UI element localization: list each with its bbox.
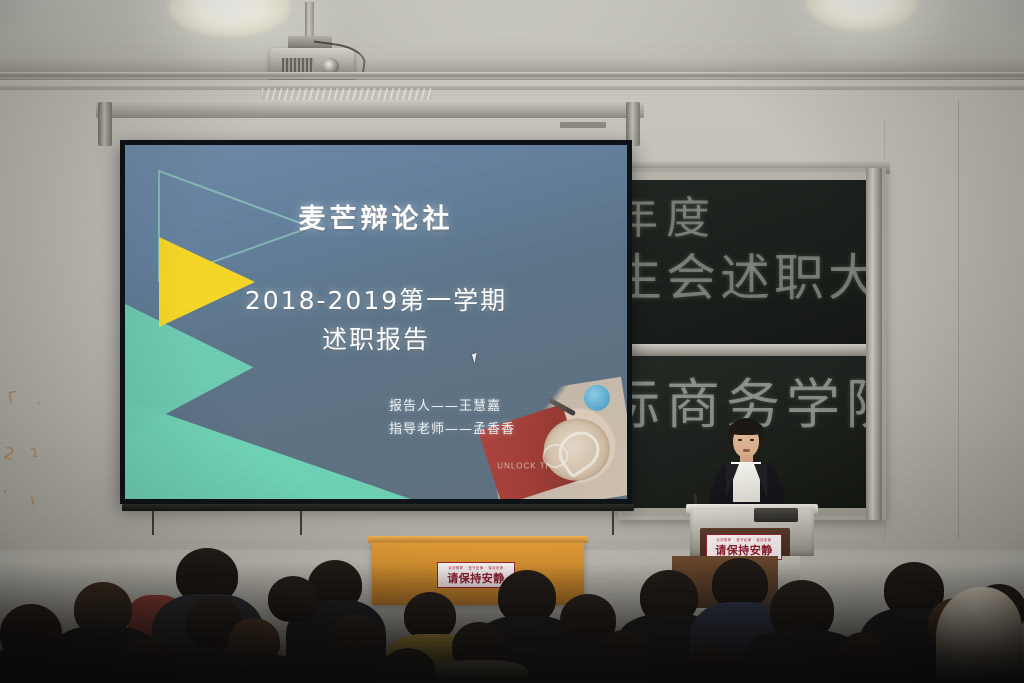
laptop[interactable] [754, 508, 798, 522]
classroom-photo-scene: Γ ˈ 2 ɿ ʻ ı 年度 生会述职大会 际商务学院 UNLOCK THE [0, 0, 1024, 683]
slide-subtitle-term: 2018-2019第一学期 [125, 281, 627, 317]
slide-surface: UNLOCK THE 麦芒辩论社 2018-2019第一学期 述职报告 报告人—… [125, 145, 627, 499]
presenter-lapel-right [754, 464, 767, 498]
microphone-icon [690, 486, 698, 494]
screen-cord-mid [300, 509, 302, 535]
screen-roller-housing [96, 100, 644, 118]
screen-housing-strip [262, 88, 432, 100]
photo-blue-accent [582, 383, 612, 413]
screen-housing-label [560, 122, 606, 128]
ceiling-rail [0, 72, 1024, 79]
blackboard-upper-panel: 年度 生会述职大会 [622, 180, 870, 344]
presenter-mouth [743, 449, 750, 452]
presenter-lapel-left [726, 464, 739, 498]
blackboard-chalk-ledge [618, 344, 874, 356]
slide-credits: 报告人——王慧嘉 指导老师——孟香香 [389, 395, 515, 441]
ceiling-rail-secondary [0, 86, 1024, 90]
screen-cord-left [152, 509, 154, 535]
slide-credit-presenter: 报告人——王慧嘉 [389, 395, 515, 418]
screen-cord-right [612, 509, 614, 535]
projector-mount-pole [305, 2, 314, 40]
wall-mark-4: ɿ [29, 442, 39, 462]
presenter-hair-front [729, 421, 763, 435]
slide-subtitle-report: 述职报告 [125, 320, 627, 356]
slide-credit-advisor: 指导老师——孟香香 [389, 418, 515, 441]
screen-bottom-bar [122, 504, 634, 511]
slide-title: 麦芒辩论社 [125, 197, 627, 236]
presenter-eye-left [738, 439, 742, 441]
audience [0, 536, 1024, 683]
blackboard-text-line2: 生会述职大会 [622, 238, 870, 310]
blackboard-right-rail [866, 168, 882, 520]
audience-shadow-gradient [0, 563, 1024, 683]
presenter-eye-right [750, 439, 754, 441]
projection-screen[interactable]: UNLOCK THE 麦芒辩论社 2018-2019第一学期 述职报告 报告人—… [120, 140, 632, 504]
blackboard-text-line1: 年度 [622, 182, 718, 246]
wall-panel-seam-right [958, 100, 959, 540]
screen-bracket-left [98, 102, 112, 146]
